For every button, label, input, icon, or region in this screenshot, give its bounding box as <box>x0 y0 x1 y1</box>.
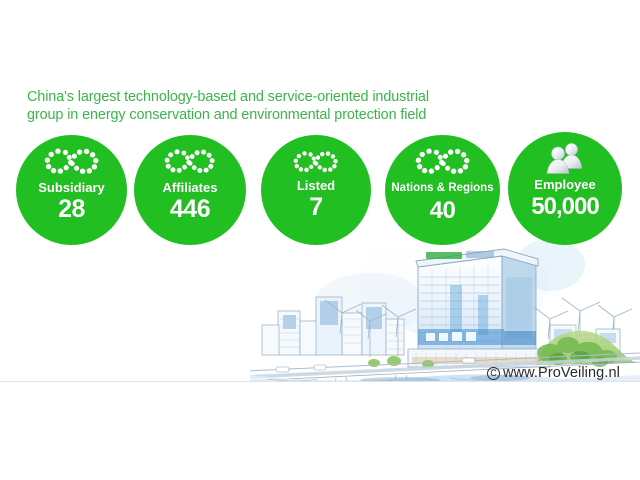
stat-label: Affiliates <box>163 180 218 195</box>
stat-label: Employee <box>534 177 595 192</box>
stat-circle-nations-regions: Nations & Regions 40 <box>385 135 500 245</box>
stat-label: Subsidiary <box>38 180 104 195</box>
screenshot-canvas: China's largest technology-based and ser… <box>0 0 640 480</box>
bottom-divider <box>0 381 640 382</box>
headline-line-2: group in energy conservation and environ… <box>27 106 497 124</box>
dotted-infinity-icon <box>415 146 471 176</box>
stat-label: Nations & Regions <box>391 181 493 196</box>
watercolor-cityscape-illustration <box>250 225 640 382</box>
stat-circle-listed: Listed 7 <box>261 135 371 245</box>
stat-circle-affiliates: Affiliates 446 <box>134 135 246 245</box>
dotted-infinity-icon <box>164 146 216 176</box>
headline-line-1: China's largest technology-based and ser… <box>27 88 497 106</box>
dotted-infinity-icon <box>293 148 339 174</box>
headline: China's largest technology-based and ser… <box>27 88 497 124</box>
stat-value: 446 <box>170 196 210 223</box>
infographic-banner: China's largest technology-based and ser… <box>0 0 640 382</box>
stat-value: 7 <box>309 194 322 221</box>
stat-label: Listed <box>297 178 335 193</box>
watermark-text: www.ProVeiling.nl <box>503 365 620 381</box>
stat-value: 40 <box>430 197 456 224</box>
watermark: Cwww.ProVeiling.nl <box>487 365 620 381</box>
stat-value: 28 <box>58 196 85 223</box>
copyright-icon: C <box>487 367 500 380</box>
people-icon <box>542 143 588 173</box>
dotted-infinity-icon <box>44 146 100 176</box>
stat-value: 50,000 <box>531 193 598 220</box>
stat-circle-employee: Employee 50,000 <box>508 132 622 245</box>
stat-circle-subsidiary: Subsidiary 28 <box>16 135 127 245</box>
